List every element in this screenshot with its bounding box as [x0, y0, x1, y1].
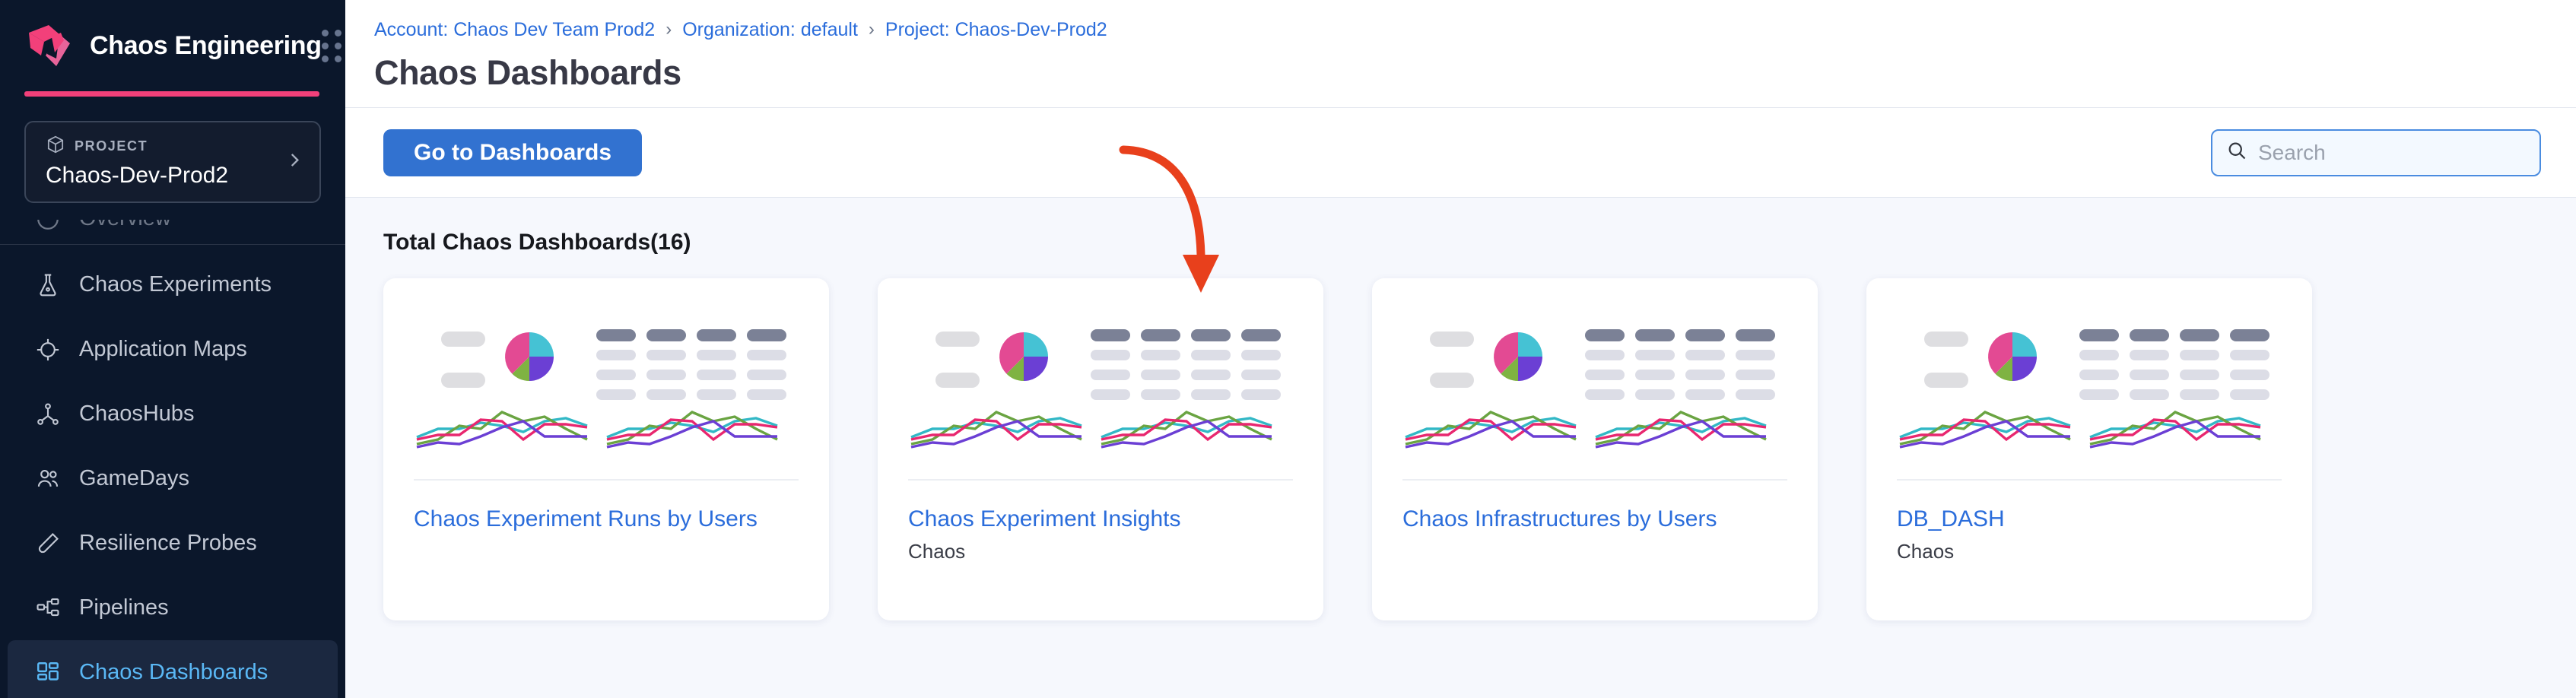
go-to-dashboards-button[interactable]: Go to Dashboards	[383, 129, 642, 176]
sidebar-item-pipelines[interactable]: Pipelines	[8, 576, 338, 640]
harness-chaos-logo-icon	[26, 22, 75, 69]
dashboards-content: Total Chaos Dashboards(16)	[345, 198, 2576, 698]
dashboard-card-title[interactable]: Chaos Experiment Runs by Users	[414, 506, 799, 532]
sidebar: Chaos Engineering PROJECT Chaos-Dev-Prod…	[0, 0, 345, 698]
main-content: Account: Chaos Dev Team Prod2 › Organiza…	[345, 0, 2576, 698]
page-title: Chaos Dashboards	[374, 53, 2576, 93]
breadcrumb-project[interactable]: Project: Chaos-Dev-Prod2	[885, 19, 1107, 41]
card-divider	[414, 479, 799, 481]
dashboard-thumbnail	[908, 310, 1293, 476]
dashboard-card[interactable]: Chaos Experiment Runs by Users	[383, 278, 829, 620]
overview-icon	[33, 220, 62, 233]
breadcrumb-organization[interactable]: Organization: default	[682, 19, 858, 41]
dashboard-card-title[interactable]: DB_DASH	[1897, 506, 2282, 532]
dashboard-thumbnail	[1402, 310, 1787, 476]
project-label: PROJECT	[75, 138, 148, 154]
project-name: Chaos-Dev-Prod2	[46, 163, 303, 189]
hub-node-icon	[33, 400, 62, 429]
sidebar-nav: Chaos Experiments Application Maps	[0, 245, 345, 698]
brand-title: Chaos Engineering	[90, 31, 322, 61]
pipeline-icon	[33, 594, 62, 623]
dashboard-thumbnail	[414, 310, 799, 476]
cube-icon	[46, 135, 65, 158]
flask-icon	[33, 271, 62, 300]
dashboard-card-subtitle: Chaos	[1897, 540, 2282, 563]
card-divider	[908, 479, 1293, 481]
total-dashboards-label: Total Chaos Dashboards(16)	[383, 230, 2538, 255]
sidebar-scrolled-item-overview[interactable]: Overview	[0, 220, 345, 244]
card-divider	[1402, 479, 1787, 481]
dashboard-card-subtitle: Chaos	[908, 540, 1293, 563]
search-input[interactable]	[2258, 141, 2526, 165]
project-selector[interactable]: PROJECT Chaos-Dev-Prod2	[24, 121, 321, 203]
sidebar-item-chaoshubs[interactable]: ChaosHubs	[8, 382, 338, 446]
brand-accent-underline	[24, 91, 319, 97]
target-icon	[33, 335, 62, 364]
chevron-right-icon[interactable]	[284, 151, 304, 174]
dashboard-thumbnail	[1897, 310, 2282, 476]
dashboard-card-grid: Chaos Experiment Runs by Users	[383, 278, 2538, 620]
breadcrumb-account[interactable]: Account: Chaos Dev Team Prod2	[374, 19, 655, 41]
sidebar-item-label: Application Maps	[79, 337, 247, 362]
dashboard-card-title[interactable]: Chaos Experiment Insights	[908, 506, 1293, 532]
sidebar-item-application-maps[interactable]: Application Maps	[8, 317, 338, 382]
app-root: Chaos Engineering PROJECT Chaos-Dev-Prod…	[0, 0, 2576, 698]
sidebar-item-label: Pipelines	[79, 595, 169, 620]
dashboard-card[interactable]: Chaos Infrastructures by Users	[1372, 278, 1818, 620]
people-icon	[33, 465, 62, 493]
toolbar: Go to Dashboards	[345, 108, 2576, 198]
app-grid-icon[interactable]	[322, 30, 345, 62]
dashboard-card[interactable]: DB_DASH Chaos	[1866, 278, 2312, 620]
sidebar-item-label: Resilience Probes	[79, 531, 257, 556]
page-header: Account: Chaos Dev Team Prod2 › Organiza…	[345, 0, 2576, 108]
breadcrumb-separator-icon: ›	[869, 19, 875, 40]
sidebar-brand: Chaos Engineering	[0, 0, 345, 91]
sidebar-item-resilience-probes[interactable]: Resilience Probes	[8, 511, 338, 576]
test-tube-icon	[33, 529, 62, 558]
sidebar-item-label: Overview	[79, 220, 171, 231]
breadcrumb: Account: Chaos Dev Team Prod2 › Organiza…	[374, 11, 2576, 41]
sidebar-item-chaos-dashboards[interactable]: Chaos Dashboards	[8, 640, 338, 698]
dashboard-card-title[interactable]: Chaos Infrastructures by Users	[1402, 506, 1787, 532]
dashboard-card[interactable]: Chaos Experiment Insights Chaos	[878, 278, 1323, 620]
sidebar-item-label: GameDays	[79, 466, 189, 491]
sidebar-item-label: Chaos Dashboards	[79, 660, 268, 685]
search-box[interactable]	[2211, 129, 2541, 176]
search-icon	[2226, 140, 2247, 165]
breadcrumb-separator-icon: ›	[665, 19, 672, 40]
card-divider	[1897, 479, 2282, 481]
sidebar-item-label: Chaos Experiments	[79, 272, 272, 297]
sidebar-item-gamedays[interactable]: GameDays	[8, 446, 338, 511]
sidebar-item-chaos-experiments[interactable]: Chaos Experiments	[8, 252, 338, 317]
dashboard-grid-icon	[33, 658, 62, 687]
sidebar-item-label: ChaosHubs	[79, 401, 195, 427]
